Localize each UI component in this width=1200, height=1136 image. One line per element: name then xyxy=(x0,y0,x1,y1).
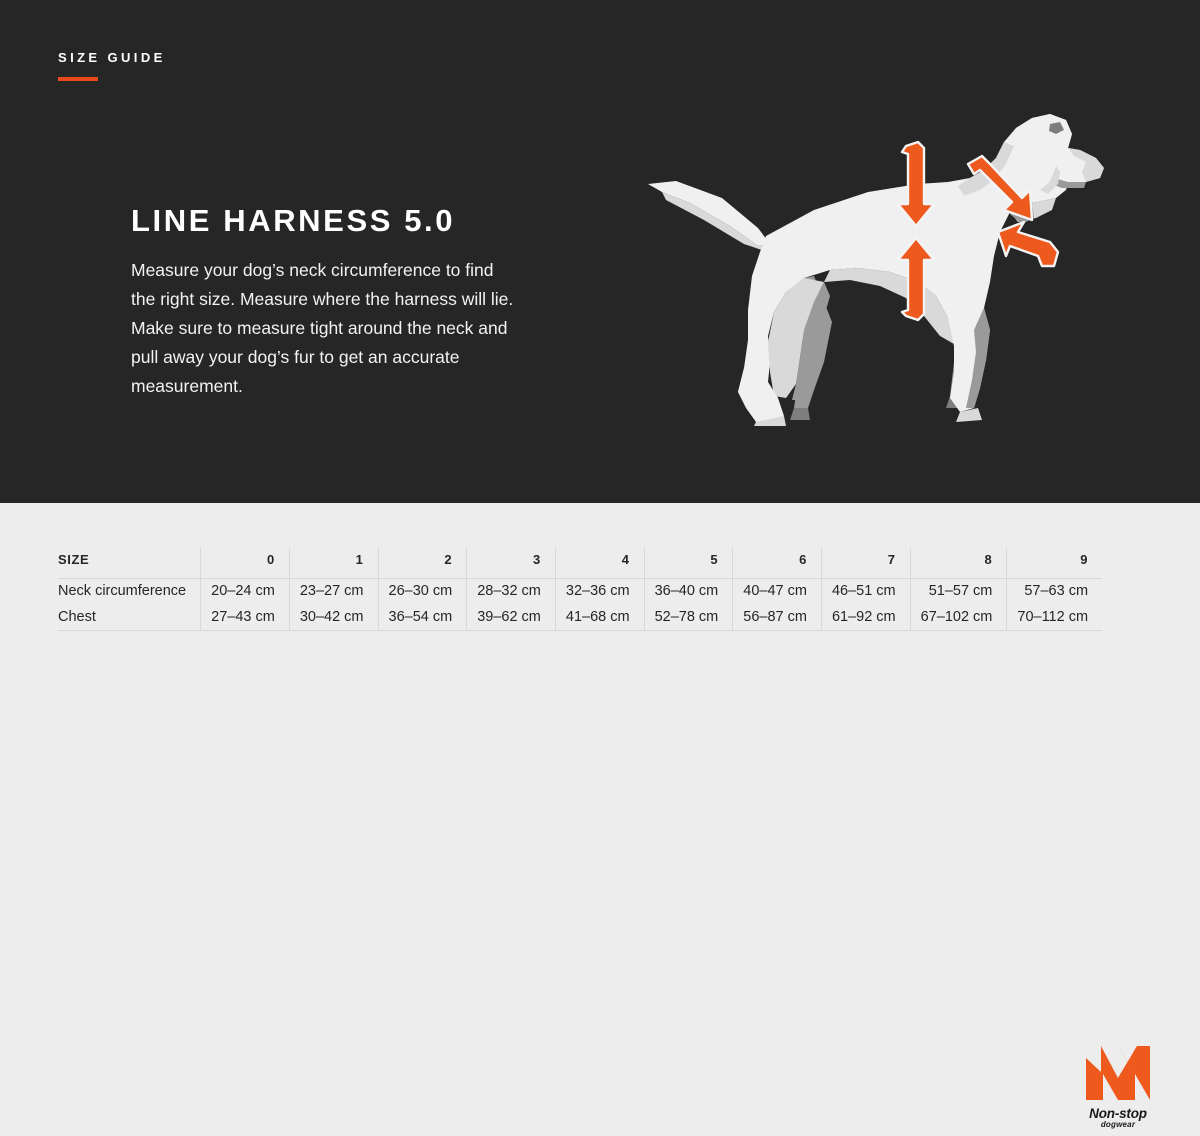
row-label-chest: Chest xyxy=(58,604,201,630)
accent-rule xyxy=(58,77,98,81)
size-table-body: Neck circumference 20–24 cm 23–27 cm 26–… xyxy=(58,578,1102,630)
eyebrow-label: SIZE GUIDE xyxy=(58,50,166,65)
column-header-8: 8 xyxy=(910,548,1007,578)
dog-illustration: .lt{fill:#f0f0f0} .md{fill:#d9d9d9} .dk{… xyxy=(618,86,1118,426)
cell-chest-2: 36–54 cm xyxy=(378,604,467,630)
page-title: LINE HARNESS 5.0 xyxy=(131,203,455,239)
cell-chest-9: 70–112 cm xyxy=(1007,604,1102,630)
row-label-neck: Neck circumference xyxy=(58,578,201,604)
column-header-1: 1 xyxy=(289,548,378,578)
table-row: Neck circumference 20–24 cm 23–27 cm 26–… xyxy=(58,578,1102,604)
column-header-0: 0 xyxy=(201,548,290,578)
column-header-size: SIZE xyxy=(58,548,201,578)
cell-neck-3: 28–32 cm xyxy=(467,578,556,604)
cell-chest-5: 52–78 cm xyxy=(644,604,733,630)
hero-section: SIZE GUIDE LINE HARNESS 5.0 Measure your… xyxy=(0,0,1200,503)
instructions-text: Measure your dog’s neck circumference to… xyxy=(131,256,516,401)
brand-name: Non-stop xyxy=(1089,1106,1147,1121)
eyebrow-block: SIZE GUIDE xyxy=(58,50,166,81)
column-header-4: 4 xyxy=(555,548,644,578)
cell-neck-8: 51–57 cm xyxy=(910,578,1007,604)
table-header-row: SIZE 0 1 2 3 4 5 6 7 8 9 xyxy=(58,548,1102,578)
cell-neck-4: 32–36 cm xyxy=(555,578,644,604)
neck-measure-arrow-up xyxy=(998,222,1058,266)
cell-neck-7: 46–51 cm xyxy=(821,578,910,604)
column-header-7: 7 xyxy=(821,548,910,578)
column-header-2: 2 xyxy=(378,548,467,578)
column-header-5: 5 xyxy=(644,548,733,578)
column-header-9: 9 xyxy=(1007,548,1102,578)
column-header-6: 6 xyxy=(733,548,822,578)
cell-neck-2: 26–30 cm xyxy=(378,578,467,604)
size-table: SIZE 0 1 2 3 4 5 6 7 8 9 Neck circumfere… xyxy=(58,548,1102,631)
column-header-3: 3 xyxy=(467,548,556,578)
cell-chest-3: 39–62 cm xyxy=(467,604,556,630)
cell-chest-6: 56–87 cm xyxy=(733,604,822,630)
cell-neck-1: 23–27 cm xyxy=(289,578,378,604)
cell-chest-7: 61–92 cm xyxy=(821,604,910,630)
cell-chest-4: 41–68 cm xyxy=(555,604,644,630)
table-row: Chest 27–43 cm 30–42 cm 36–54 cm 39–62 c… xyxy=(58,604,1102,630)
cell-chest-1: 30–42 cm xyxy=(289,604,378,630)
brand-tagline: dogwear xyxy=(1101,1120,1135,1129)
cell-chest-0: 27–43 cm xyxy=(201,604,290,630)
brand-logo: Non-stop dogwear xyxy=(1072,1044,1164,1136)
cell-chest-8: 67–102 cm xyxy=(910,604,1007,630)
non-stop-logo-icon xyxy=(1084,1044,1152,1102)
cell-neck-6: 40–47 cm xyxy=(733,578,822,604)
cell-neck-0: 20–24 cm xyxy=(201,578,290,604)
size-table-head: SIZE 0 1 2 3 4 5 6 7 8 9 xyxy=(58,548,1102,578)
cell-neck-5: 36–40 cm xyxy=(644,578,733,604)
size-panel: SIZE 0 1 2 3 4 5 6 7 8 9 Neck circumfere… xyxy=(0,503,1200,675)
cell-neck-9: 57–63 cm xyxy=(1007,578,1102,604)
